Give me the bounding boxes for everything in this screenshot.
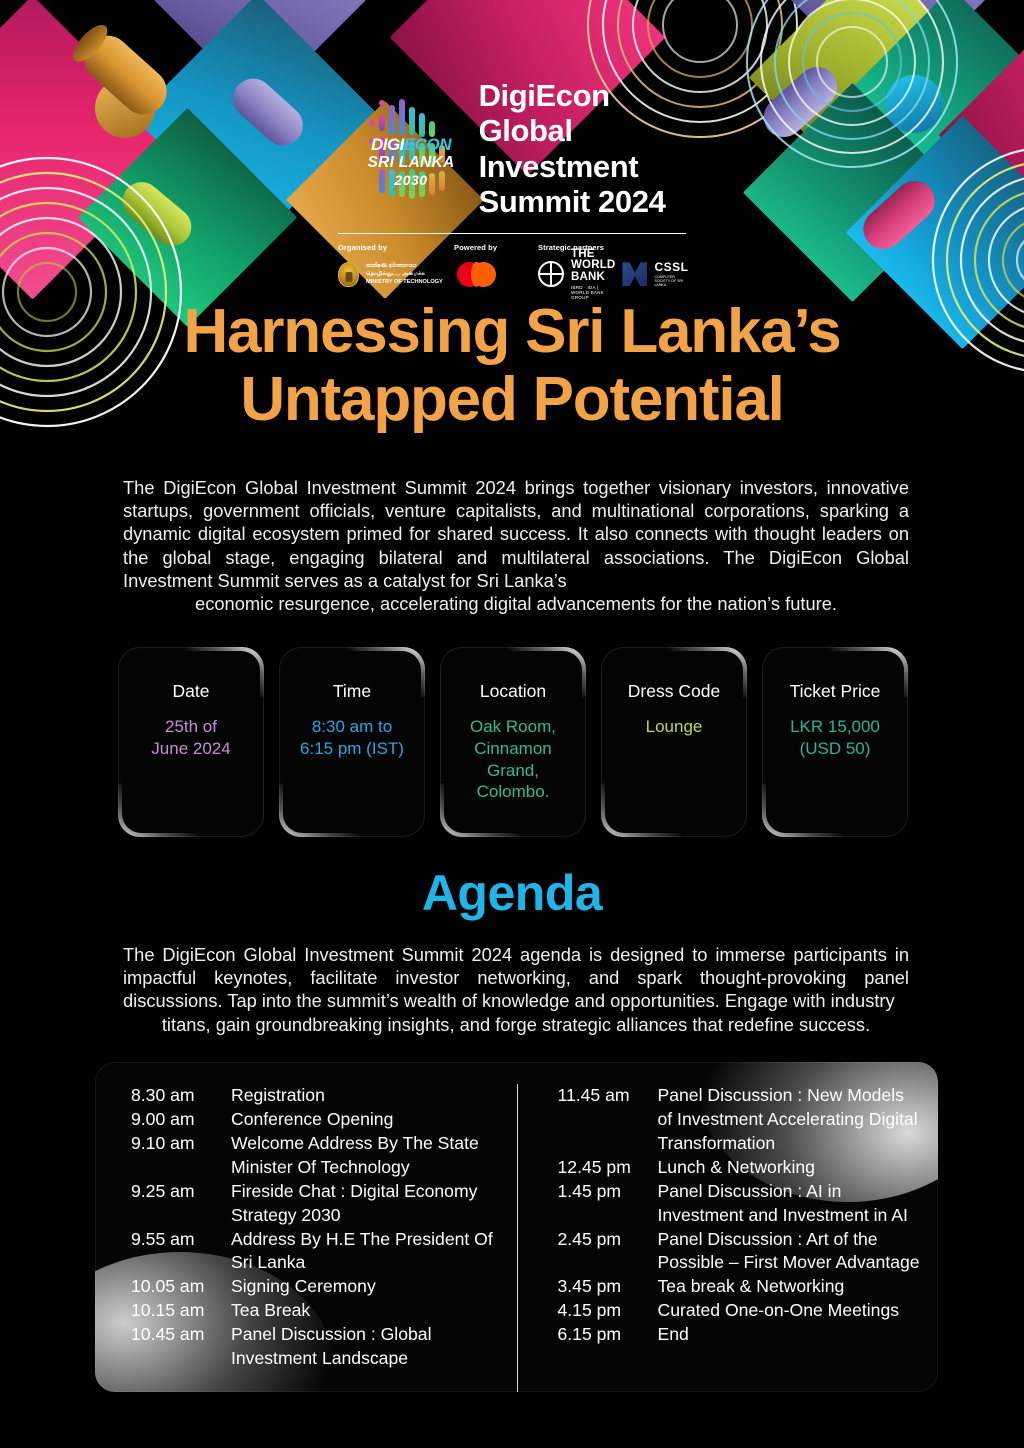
agenda-row-description: Panel Discussion : Art of the Possible –… bbox=[658, 1228, 921, 1276]
ministry-sinhala: තාක්ෂණ අමාත්‍යාංශය bbox=[366, 262, 443, 270]
agenda-row-time: 4.15 pm bbox=[558, 1299, 658, 1323]
event-header: DIGIECON SRI LANKA 2030 DigiEcon Global … bbox=[0, 78, 1024, 289]
agenda-intro-paragraph: The DigiEcon Global Investment Summit 20… bbox=[123, 943, 909, 1036]
svg-text:DIGIECON: DIGIECON bbox=[371, 135, 452, 154]
agenda-column-afternoon: 11.45 amPanel Discussion : New Models of… bbox=[517, 1084, 939, 1392]
agenda-row-time: 9.00 am bbox=[131, 1108, 231, 1132]
agenda-intro-last-line: titans, gain groundbreaking insights, an… bbox=[123, 1013, 909, 1036]
ministry-english: MINISTRY OF TECHNOLOGY bbox=[366, 278, 443, 286]
agenda-row-description: Registration bbox=[231, 1084, 499, 1108]
mastercard-icon bbox=[454, 258, 508, 291]
agenda-row: 10.15 amTea Break bbox=[131, 1299, 499, 1323]
intro-paragraph: The DigiEcon Global Investment Summit 20… bbox=[123, 476, 909, 615]
agenda-row: 4.15 pmCurated One-on-One Meetings bbox=[558, 1299, 921, 1323]
agenda-row-description: Tea Break bbox=[231, 1299, 499, 1323]
agenda-intro-main: The DigiEcon Global Investment Summit 20… bbox=[123, 944, 909, 1011]
intro-last-line: economic resurgence, accelerating digita… bbox=[123, 592, 909, 615]
agenda-row-time: 6.15 pm bbox=[558, 1323, 658, 1347]
organised-by-label: Organised by bbox=[338, 243, 454, 252]
agenda-row-description: Address By H.E The President Of Sri Lank… bbox=[231, 1228, 499, 1276]
svg-text:SRI LANKA: SRI LANKA bbox=[367, 154, 454, 171]
page-title: Harnessing Sri Lanka’s Untapped Potentia… bbox=[0, 298, 1024, 434]
agenda-row-time: 9.10 am bbox=[131, 1132, 231, 1180]
agenda-row-description: Lunch & Networking bbox=[658, 1156, 921, 1180]
agenda-row: 11.45 amPanel Discussion : New Models of… bbox=[558, 1084, 921, 1156]
info-card-label: Date bbox=[173, 681, 210, 702]
info-card-dress-code: Dress CodeLounge bbox=[601, 647, 747, 837]
agenda-row-description: Panel Discussion : AI in Investment and … bbox=[658, 1180, 921, 1228]
powered-by-group: Powered by bbox=[454, 243, 538, 289]
agenda-row: 12.45 pmLunch & Networking bbox=[558, 1156, 921, 1180]
headline-line-1: Harnessing Sri Lanka’s bbox=[0, 298, 1024, 366]
agenda-row-time: 10.15 am bbox=[131, 1299, 231, 1323]
agenda-row-description: End bbox=[658, 1323, 921, 1347]
agenda-row: 10.05 amSigning Ceremony bbox=[131, 1275, 499, 1299]
info-card-value: Oak Room,CinnamonGrand,Colombo. bbox=[470, 716, 556, 803]
info-card-time: Time8:30 am to6:15 pm (IST) bbox=[279, 647, 425, 837]
info-card-label: Time bbox=[333, 681, 371, 702]
agenda-row: 9.10 amWelcome Address By The State Mini… bbox=[131, 1132, 499, 1180]
agenda-row-time: 3.45 pm bbox=[558, 1275, 658, 1299]
agenda-row-time: 12.45 pm bbox=[558, 1156, 658, 1180]
agenda-row: 9.00 amConference Opening bbox=[131, 1108, 499, 1132]
agenda-row: 1.45 pmPanel Discussion : AI in Investme… bbox=[558, 1180, 921, 1228]
sri-lanka-emblem-icon bbox=[338, 262, 359, 287]
agenda-row-description: Tea break & Networking bbox=[658, 1275, 921, 1299]
partners-row: Organised by තාක්ෂණ අමාත්‍යාංශය தொழில்நு… bbox=[338, 243, 686, 289]
agenda-row-time: 8.30 am bbox=[131, 1084, 231, 1108]
agenda-row-time: 11.45 am bbox=[558, 1084, 658, 1156]
cssl-mark-icon bbox=[622, 262, 647, 286]
agenda-heading: Agenda bbox=[0, 864, 1024, 922]
agenda-row: 2.45 pmPanel Discussion : Art of the Pos… bbox=[558, 1228, 921, 1276]
organised-by-group: Organised by තාක්ෂණ අමාත්‍යාංශය தொழில்நு… bbox=[338, 243, 454, 289]
cssl-sub: COMPUTER SOCIETY OF SRI LANKA bbox=[654, 275, 688, 287]
agenda-row: 3.45 pmTea break & Networking bbox=[558, 1275, 921, 1299]
event-title-line-1: DigiEcon bbox=[479, 78, 666, 113]
agenda-row-description: Conference Opening bbox=[231, 1108, 499, 1132]
event-title-line-4: Summit 2024 bbox=[479, 184, 666, 219]
agenda-row: 9.25 amFireside Chat : Digital Economy S… bbox=[131, 1180, 499, 1228]
logo-row: DIGIECON SRI LANKA 2030 DigiEcon Global … bbox=[0, 78, 1024, 219]
world-bank-globe-icon bbox=[538, 261, 564, 287]
agenda-row-time: 10.05 am bbox=[131, 1275, 231, 1299]
info-card-date: Date25th ofJune 2024 bbox=[118, 647, 264, 837]
info-card-label: Ticket Price bbox=[790, 681, 881, 702]
svg-text:2030: 2030 bbox=[393, 172, 427, 188]
agenda-row: 8.30 amRegistration bbox=[131, 1084, 499, 1108]
agenda-row-description: Curated One-on-One Meetings bbox=[658, 1299, 921, 1323]
agenda-row: 9.55 amAddress By H.E The President Of S… bbox=[131, 1228, 499, 1276]
agenda-row-description: Panel Discussion : New Models of Investm… bbox=[658, 1084, 921, 1156]
headline-line-2: Untapped Potential bbox=[0, 366, 1024, 434]
agenda-row: 10.45 amPanel Discussion : Global Invest… bbox=[131, 1323, 499, 1371]
info-card-location: LocationOak Room,CinnamonGrand,Colombo. bbox=[440, 647, 586, 837]
agenda-column-morning: 8.30 amRegistration9.00 amConference Ope… bbox=[95, 1084, 517, 1392]
cssl-name: CSSL bbox=[654, 261, 688, 273]
info-card-value: 25th ofJune 2024 bbox=[151, 716, 230, 760]
agenda-row-time: 9.25 am bbox=[131, 1180, 231, 1228]
agenda-row-time: 2.45 pm bbox=[558, 1228, 658, 1276]
event-title-line-3: Investment bbox=[479, 149, 666, 184]
ministry-tamil: தொழில்நுட்ப அமைச்சு bbox=[366, 270, 443, 278]
ministry-of-technology-logo: තාක්ෂණ අමාත්‍යාංශය தொழில்நுட்ப அமைச்சு M… bbox=[366, 262, 443, 286]
agenda-row: 6.15 pmEnd bbox=[558, 1323, 921, 1347]
event-title: DigiEcon Global Investment Summit 2024 bbox=[479, 78, 666, 219]
info-card-value: 8:30 am to6:15 pm (IST) bbox=[300, 716, 404, 760]
strategic-partners-group: Strategic partners THE WORLD BANK IBRD ·… bbox=[538, 243, 686, 289]
agenda-row-time: 1.45 pm bbox=[558, 1180, 658, 1228]
agenda-row-time: 10.45 am bbox=[131, 1323, 231, 1371]
agenda-row-description: Signing Ceremony bbox=[231, 1275, 499, 1299]
info-card-value: Lounge bbox=[646, 716, 703, 738]
info-card-label: Dress Code bbox=[628, 681, 720, 702]
agenda-row-time: 9.55 am bbox=[131, 1228, 231, 1276]
info-card-ticket-price: Ticket PriceLKR 15,000(USD 50) bbox=[762, 647, 908, 837]
header-divider bbox=[338, 233, 686, 234]
intro-main-text: The DigiEcon Global Investment Summit 20… bbox=[123, 477, 909, 591]
agenda-row-description: Welcome Address By The State Minister Of… bbox=[231, 1132, 499, 1180]
info-card-value: LKR 15,000(USD 50) bbox=[790, 716, 880, 760]
world-bank-name: THE WORLD BANK bbox=[571, 249, 615, 284]
agenda-row-description: Fireside Chat : Digital Economy Strategy… bbox=[231, 1180, 499, 1228]
agenda-schedule-panel: 8.30 amRegistration9.00 amConference Ope… bbox=[95, 1062, 938, 1392]
digiecon-logo-icon: DIGIECON SRI LANKA 2030 bbox=[359, 93, 463, 205]
world-bank-logo: THE WORLD BANK IBRD · IDA | WORLD BANK G… bbox=[571, 249, 615, 301]
agenda-row-description: Panel Discussion : Global Investment Lan… bbox=[231, 1323, 499, 1371]
event-info-cards: Date25th ofJune 2024Time8:30 am to6:15 p… bbox=[118, 647, 908, 837]
event-title-line-2: Global bbox=[479, 113, 666, 148]
info-card-label: Location bbox=[480, 681, 546, 702]
cssl-logo: CSSL COMPUTER SOCIETY OF SRI LANKA bbox=[654, 261, 688, 287]
powered-by-label: Powered by bbox=[454, 243, 538, 252]
